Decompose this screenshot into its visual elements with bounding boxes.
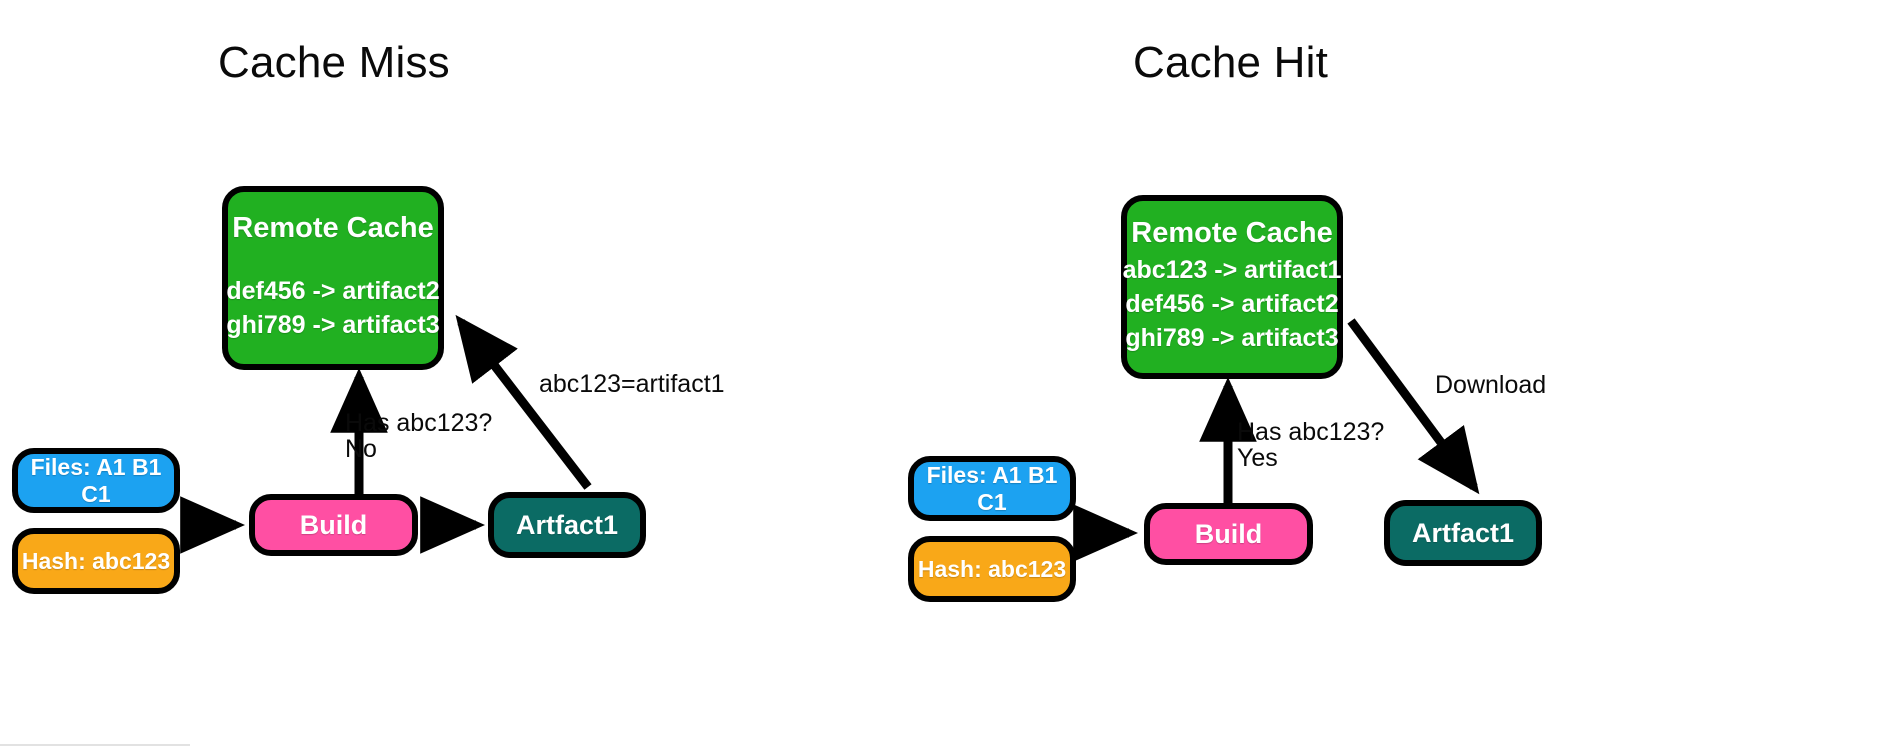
files-box-miss: Files: A1 B1 C1	[12, 448, 180, 513]
query-label-miss-line2: No	[345, 434, 377, 465]
arrow-cache-to-artifact-download	[1351, 321, 1474, 487]
diagram-canvas: Cache Miss	[0, 0, 1894, 746]
cache-miss-arrow-layer	[0, 0, 947, 746]
remote-cache-title-hit: Remote Cache	[1131, 218, 1332, 250]
artifact-box-label-hit: Artfact1	[1412, 518, 1514, 549]
build-box-label-hit: Build	[1195, 519, 1263, 550]
cache-hit-title: Cache Hit	[1133, 38, 1328, 88]
files-box-label-miss: Files: A1 B1 C1	[18, 454, 174, 508]
hash-box-label-hit: Hash: abc123	[918, 556, 1066, 583]
cache-miss-title: Cache Miss	[218, 38, 450, 88]
remote-cache-entry: ghi789 -> artifact3	[1125, 322, 1338, 356]
upload-label-miss: abc123=artifact1	[539, 369, 725, 400]
remote-cache-entry: abc123 -> artifact1	[1123, 254, 1342, 288]
hash-box-label-miss: Hash: abc123	[22, 548, 170, 575]
build-box-label-miss: Build	[300, 510, 368, 541]
cache-miss-panel: Cache Miss	[0, 0, 947, 746]
remote-cache-box-hit: Remote Cache abc123 -> artifact1 def456 …	[1121, 195, 1343, 379]
cache-hit-arrow-layer	[947, 0, 1894, 746]
artifact-box-label-miss: Artfact1	[516, 510, 618, 541]
artifact-box-hit: Artfact1	[1384, 500, 1542, 566]
hash-box-hit: Hash: abc123	[908, 536, 1076, 602]
remote-cache-entry: ghi789 -> artifact3	[226, 309, 439, 343]
cache-hit-panel: Cache Hit Remote Cache	[947, 0, 1894, 746]
build-box-miss: Build	[249, 494, 418, 556]
remote-cache-title-miss: Remote Cache	[232, 213, 433, 245]
arrow-artifact-to-cache-upload	[461, 322, 588, 487]
files-box-hit: Files: A1 B1 C1	[908, 456, 1076, 521]
artifact-box-miss: Artfact1	[488, 492, 646, 558]
remote-cache-entry: def456 -> artifact2	[226, 275, 439, 309]
hash-box-miss: Hash: abc123	[12, 528, 180, 594]
build-box-hit: Build	[1144, 503, 1313, 565]
query-label-hit-line2: Yes	[1237, 443, 1278, 474]
download-label-hit: Download	[1435, 370, 1546, 401]
remote-cache-entry: def456 -> artifact2	[1125, 288, 1338, 322]
remote-cache-box-miss: Remote Cache def456 -> artifact2 ghi789 …	[222, 186, 444, 370]
files-box-label-hit: Files: A1 B1 C1	[914, 462, 1070, 516]
